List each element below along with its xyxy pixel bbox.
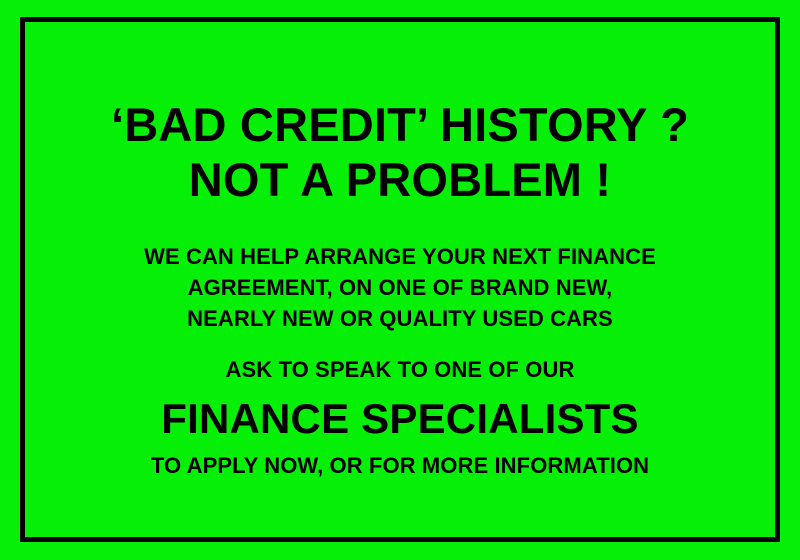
body-paragraph-block: WE CAN HELP ARRANGE YOUR NEXT FINANCE AG… bbox=[0, 241, 800, 335]
cta-footer-text: TO APPLY NOW, OR FOR MORE INFORMATION bbox=[0, 452, 800, 481]
advertisement-poster: ‘BAD CREDIT’ HISTORY ? NOT A PROBLEM ! W… bbox=[0, 0, 800, 560]
headline-block: ‘BAD CREDIT’ HISTORY ? NOT A PROBLEM ! bbox=[0, 97, 800, 208]
body-line-1: WE CAN HELP ARRANGE YOUR NEXT FINANCE bbox=[0, 241, 800, 272]
poster-content: ‘BAD CREDIT’ HISTORY ? NOT A PROBLEM ! W… bbox=[0, 0, 800, 560]
cta-lead-text: ASK TO SPEAK TO ONE OF OUR bbox=[0, 356, 800, 385]
call-to-action-block: ASK TO SPEAK TO ONE OF OUR FINANCE SPECI… bbox=[0, 356, 800, 481]
body-line-3: NEARLY NEW OR QUALITY USED CARS bbox=[0, 303, 800, 334]
body-line-2: AGREEMENT, ON ONE OF BRAND NEW, bbox=[0, 272, 800, 303]
headline-line-2: NOT A PROBLEM ! bbox=[0, 152, 800, 207]
headline-line-1: ‘BAD CREDIT’ HISTORY ? bbox=[0, 97, 800, 152]
cta-headline-text: FINANCE SPECIALISTS bbox=[0, 394, 800, 444]
